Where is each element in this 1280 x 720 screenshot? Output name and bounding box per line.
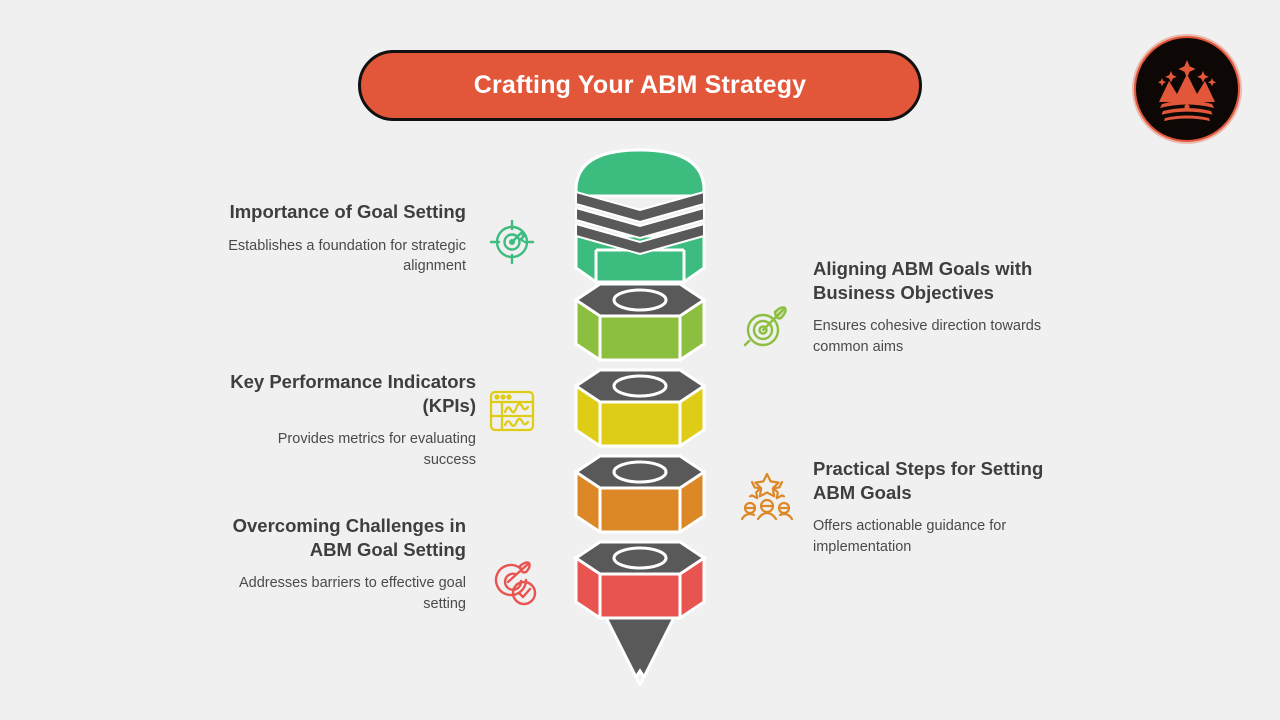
item-kpi-description: Provides metrics for evaluating success bbox=[224, 429, 476, 470]
item-practical-description: Offers actionable guidance for implement… bbox=[813, 516, 1065, 557]
page-title: Crafting Your ABM Strategy bbox=[474, 71, 807, 100]
item-importance: Importance of Goal Setting Establishes a… bbox=[214, 200, 466, 277]
item-aligning-heading: Aligning ABM Goals with Business Objecti… bbox=[813, 257, 1065, 304]
item-overcoming: Overcoming Challenges in ABM Goal Settin… bbox=[214, 514, 466, 615]
title-banner: Crafting Your ABM Strategy bbox=[358, 50, 922, 121]
crown-mountain-icon bbox=[1150, 52, 1224, 126]
stacked-funnel-graphic bbox=[560, 140, 720, 700]
funnel-segment-1 bbox=[576, 150, 704, 282]
item-aligning: Aligning ABM Goals with Business Objecti… bbox=[813, 257, 1065, 358]
funnel-segment-5 bbox=[576, 542, 704, 618]
item-importance-description: Establishes a foundation for strategic a… bbox=[214, 236, 466, 277]
funnel-segment-3 bbox=[576, 370, 704, 446]
funnel-segment-4 bbox=[576, 456, 704, 532]
item-kpi: Key Performance Indicators (KPIs) Provid… bbox=[224, 370, 476, 471]
item-aligning-description: Ensures cohesive direction towards commo… bbox=[813, 316, 1065, 357]
crown-mountain-logo bbox=[1134, 36, 1240, 142]
item-practical-heading: Practical Steps for Setting ABM Goals bbox=[813, 457, 1065, 504]
dashboard-chart-icon bbox=[486, 385, 538, 437]
item-overcoming-heading: Overcoming Challenges in ABM Goal Settin… bbox=[214, 514, 466, 561]
dartboard-arrow-icon bbox=[741, 300, 793, 352]
item-importance-heading: Importance of Goal Setting bbox=[214, 200, 466, 224]
item-practical: Practical Steps for Setting ABM Goals Of… bbox=[813, 457, 1065, 558]
item-overcoming-description: Addresses barriers to effective goal set… bbox=[214, 573, 466, 614]
target-key-icon bbox=[486, 216, 538, 268]
stars-people-icon bbox=[741, 470, 793, 522]
item-kpi-heading: Key Performance Indicators (KPIs) bbox=[224, 370, 476, 417]
funnel-svg bbox=[560, 140, 720, 700]
target-check-icon bbox=[486, 556, 538, 608]
funnel-segment-2 bbox=[576, 284, 704, 360]
